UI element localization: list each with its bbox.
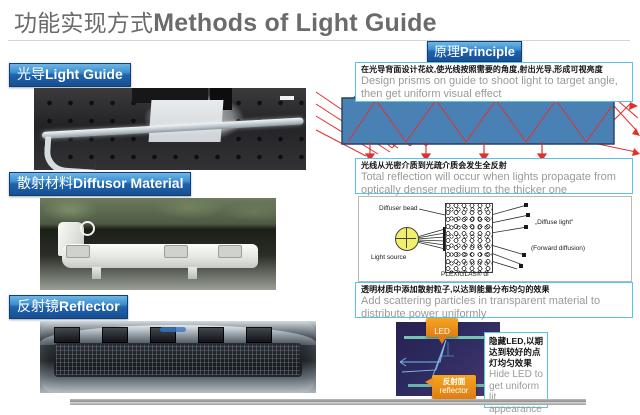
photo-light-guide-rod [34,88,306,170]
textbox-principle-en: Design prisms on guide to shoot light to… [361,75,628,100]
textbox-scattering: 透明材质中添加散射粒子,以达到能量分布均匀的效果 Add scattering … [355,282,633,318]
lens-gloss-overlay [40,321,316,393]
plexiglas-label: PLEXIGLAS® df [441,271,489,278]
label-diffusor-material: 散射材料Diffusor Material [9,172,191,196]
label-light-guide: 光导Light Guide [9,63,131,87]
label-reflector-cn: 反射镜 [17,298,59,315]
callout-reflector-en: reflector [432,386,476,395]
diffusor-clip [164,245,188,258]
page-title-cn: 功能实现方式 [14,10,153,36]
diffusor-leg [188,267,197,279]
diffuser-bead-label: Diffuser bead [379,205,418,212]
textbox-hide-led-cn: 隐藏LED,以期达到较好的点灯均匀效果 [489,336,544,369]
textbox-total-reflection: 光线从光密介质到光疏介质会发生全反射 Total reflection will… [355,158,633,194]
rod-tip-highlight [280,96,294,100]
diffuse-light-label: „Diffuse light" [535,219,573,226]
label-principle-en: Principle [460,44,515,59]
diffuser-beads-overlay [445,203,493,273]
textbox-hide-led: 隐藏LED,以期达到较好的点灯均匀效果 Hide LED to get unif… [484,332,548,408]
photo-reflector-assembly [40,321,316,393]
textbox-scattering-en: Add scattering particles in transparent … [361,295,628,320]
label-diffusor-en: Diffusor Material [73,175,183,192]
label-light-guide-cn: 光导 [17,66,45,83]
textbox-total-reflection-en: Total reflection will occur when lights … [361,171,628,196]
callout-led: LED [426,318,458,337]
callout-reflector: 反射面 reflector [432,375,476,399]
title-divider [8,40,630,41]
diffusor-leg [92,267,101,279]
photo-diffusor-part [40,198,276,290]
diffusor-part-body [58,222,258,272]
figure-plexiglas-diffuser: Diffuser bead Light source PLEXIGLAS® df… [358,196,632,282]
label-diffusor-cn: 散射材料 [17,175,73,192]
label-principle-cn: 原理 [434,44,460,59]
page-title-en: Methods of Light Guide [153,9,437,37]
callout-reflector-cn: 反射面 [432,377,476,386]
light-source-icon [395,227,419,251]
page-title: 功能实现方式Methods of Light Guide [14,4,514,38]
textbox-hide-led-en: Hide LED to get uniform lit appearance [489,369,544,415]
bottom-divider-bar [70,399,586,405]
diffusor-mount-ring [80,221,95,236]
callout-led-label: LED [434,327,450,336]
label-reflector-en: Reflector [59,298,120,315]
textbox-principle-cn: 在光导背面设计花纹,使光线按照需要的角度,射出光导,形成可视亮度 [361,65,628,75]
label-light-guide-en: Light Guide [45,66,123,83]
textbox-scattering-cn: 透明材质中添加散射粒子,以达到能量分布均匀的效果 [361,285,628,295]
textbox-total-reflection-cn: 光线从光密介质到光疏介质会发生全反射 [361,161,628,171]
plexiglas-slab [445,203,493,273]
forward-diffusion-label: (Forward diffusion) [531,245,585,252]
label-reflector: 反射镜Reflector [9,295,128,319]
textbox-principle: 在光导背面设计花纹,使光线按照需要的角度,射出光导,形成可视亮度 Design … [355,62,633,102]
light-guide-rod [42,112,304,156]
diffusor-clip [218,245,242,258]
diffusor-clip [66,245,90,258]
light-source-label: Light source [371,254,406,261]
label-principle: 原理Principle [427,41,522,62]
